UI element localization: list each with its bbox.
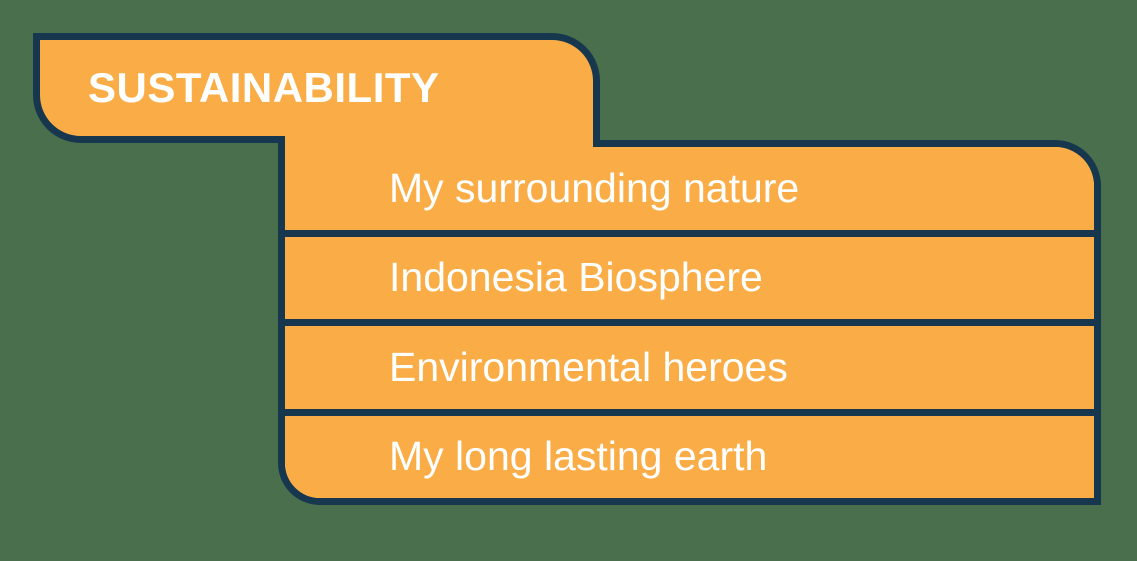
tab-panel-seam bbox=[285, 136, 593, 147]
list-item[interactable]: My long lasting earth bbox=[285, 409, 1094, 499]
page-title: SUSTAINABILITY bbox=[88, 67, 440, 109]
list-item-label: My long lasting earth bbox=[389, 436, 767, 477]
list-item[interactable]: My surrounding nature bbox=[285, 147, 1094, 230]
list-item-label: Indonesia Biosphere bbox=[389, 257, 763, 298]
diagram-canvas: SUSTAINABILITY My surrounding nature Ind… bbox=[0, 0, 1137, 561]
list-item[interactable]: Indonesia Biosphere bbox=[285, 230, 1094, 320]
items-panel: My surrounding nature Indonesia Biospher… bbox=[278, 140, 1101, 505]
header-tab: SUSTAINABILITY bbox=[33, 33, 600, 143]
list-item[interactable]: Environmental heroes bbox=[285, 319, 1094, 409]
list-item-label: My surrounding nature bbox=[389, 168, 799, 209]
list-item-label: Environmental heroes bbox=[389, 347, 788, 388]
